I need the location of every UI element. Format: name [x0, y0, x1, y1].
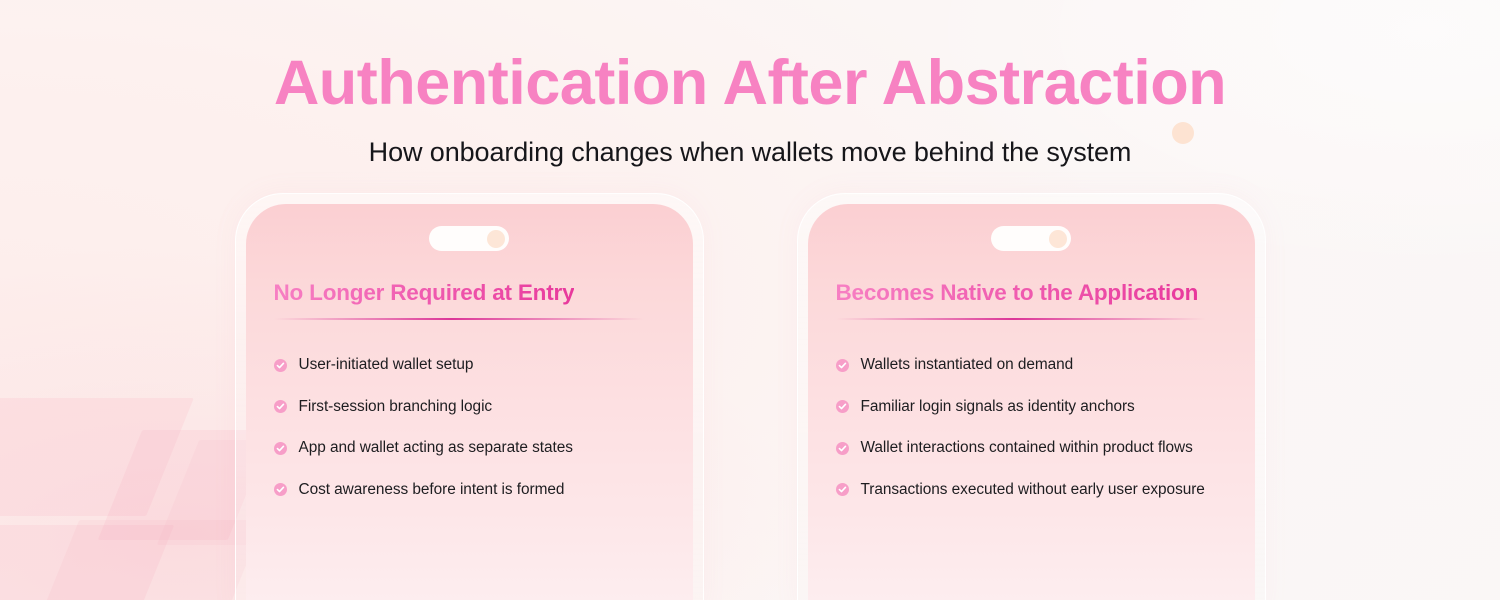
phone-notch-icon	[429, 226, 509, 251]
list-item-label: Wallet interactions contained within pro…	[861, 439, 1193, 457]
list-item: Familiar login signals as identity ancho…	[836, 398, 1235, 416]
list-item: Cost awareness before intent is formed	[274, 481, 673, 499]
page-subtitle: How onboarding changes when wallets move…	[0, 137, 1500, 168]
check-circle-icon	[274, 400, 287, 413]
list-item: App and wallet acting as separate states	[274, 439, 673, 457]
list-item: Transactions executed without early user…	[836, 481, 1235, 499]
list-item-label: First-session branching logic	[299, 398, 493, 416]
list-item-label: App and wallet acting as separate states	[299, 439, 573, 457]
check-circle-icon	[274, 442, 287, 455]
card-right: Becomes Native to the Application Wallet…	[797, 193, 1266, 600]
card-left-screen: No Longer Required at Entry User-initiat…	[246, 204, 693, 600]
list-item-label: User-initiated wallet setup	[299, 356, 474, 374]
page-title: Authentication After Abstraction	[0, 52, 1500, 115]
card-left-heading: No Longer Required at Entry	[274, 280, 575, 306]
list-item-label: Wallets instantiated on demand	[861, 356, 1074, 374]
card-right-divider	[836, 318, 1206, 320]
card-right-list: Wallets instantiated on demand Familiar …	[836, 356, 1235, 522]
list-item-label: Transactions executed without early user…	[861, 481, 1205, 499]
check-circle-icon	[274, 483, 287, 496]
list-item-label: Cost awareness before intent is formed	[299, 481, 565, 499]
phone-camera-icon	[487, 230, 505, 248]
list-item: User-initiated wallet setup	[274, 356, 673, 374]
list-item: Wallets instantiated on demand	[836, 356, 1235, 374]
list-item-label: Familiar login signals as identity ancho…	[861, 398, 1135, 416]
phone-notch-icon	[991, 226, 1071, 251]
card-left: No Longer Required at Entry User-initiat…	[235, 193, 704, 600]
check-circle-icon	[836, 359, 849, 372]
list-item: Wallet interactions contained within pro…	[836, 439, 1235, 457]
header: Authentication After Abstraction How onb…	[0, 0, 1500, 168]
check-circle-icon	[274, 359, 287, 372]
check-circle-icon	[836, 442, 849, 455]
card-left-divider	[274, 318, 644, 320]
card-right-screen: Becomes Native to the Application Wallet…	[808, 204, 1255, 600]
card-right-heading: Becomes Native to the Application	[836, 280, 1199, 306]
phone-camera-icon	[1049, 230, 1067, 248]
list-item: First-session branching logic	[274, 398, 673, 416]
check-circle-icon	[836, 483, 849, 496]
comparison-cards: No Longer Required at Entry User-initiat…	[0, 193, 1500, 600]
check-circle-icon	[836, 400, 849, 413]
card-left-list: User-initiated wallet setup First-sessio…	[274, 356, 673, 522]
